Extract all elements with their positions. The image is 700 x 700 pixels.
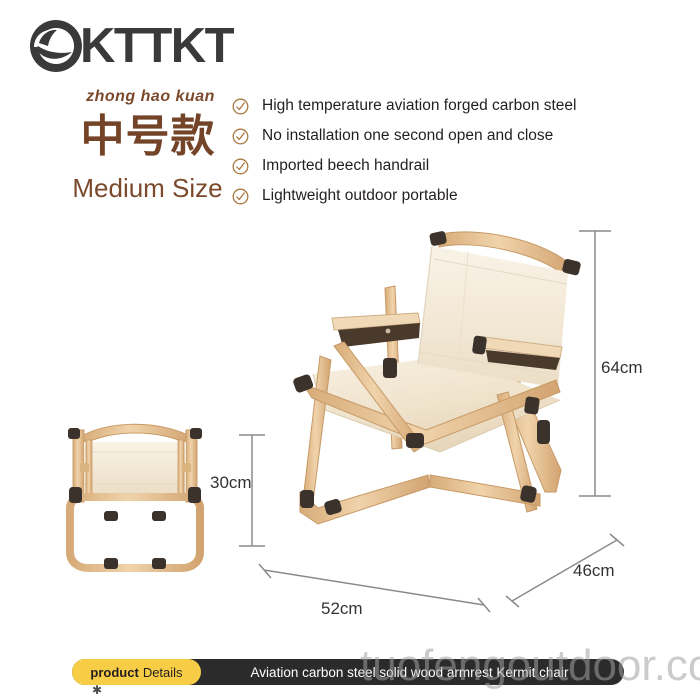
feature-text: Lightweight outdoor portable: [262, 187, 458, 205]
pinyin-label: zhong hao kuan: [68, 88, 233, 106]
feature-item: Imported beech handrail: [232, 153, 682, 179]
dimension-width-label: 52cm: [321, 599, 363, 619]
brand-name: KTTKT: [80, 16, 233, 76]
leaf-circle-logo-icon: [26, 16, 86, 76]
dimension-lines: [239, 231, 624, 612]
check-circle-icon: [232, 158, 249, 175]
asterisk-marker: ✱: [92, 684, 102, 696]
feature-text: Imported beech handrail: [262, 157, 429, 175]
dimension-folded-height-label: 30cm: [210, 473, 252, 493]
pill-light-label: Details: [143, 665, 183, 680]
feature-text: No installation one second open and clos…: [262, 127, 553, 145]
feature-list: High temperature aviation forged carbon …: [232, 93, 682, 213]
dimension-depth-label: 46cm: [573, 561, 615, 581]
check-circle-icon: [232, 98, 249, 115]
site-watermark: tuofengoutdoor.com: [360, 641, 700, 691]
check-circle-icon: [232, 128, 249, 145]
kermit-chair-open-illustration: [292, 230, 581, 524]
chinese-size-title: 中号款: [62, 110, 234, 164]
feature-item: No installation one second open and clos…: [232, 123, 682, 149]
size-label-english: Medium Size: [60, 172, 235, 204]
brand-header: KTTKT: [26, 16, 233, 76]
feature-item: High temperature aviation forged carbon …: [232, 93, 682, 119]
check-circle-icon: [232, 188, 249, 205]
feature-item: Lightweight outdoor portable: [232, 183, 682, 209]
product-details-pill: product Details: [72, 659, 201, 685]
pill-strong-label: product: [90, 665, 138, 680]
product-image-canvas: KTTKT zhong hao kuan 中号款 Medium Size Hig…: [0, 0, 700, 700]
kermit-chair-folded-illustration: [68, 424, 202, 569]
dimension-height-label: 64cm: [601, 358, 643, 378]
feature-text: High temperature aviation forged carbon …: [262, 97, 577, 115]
